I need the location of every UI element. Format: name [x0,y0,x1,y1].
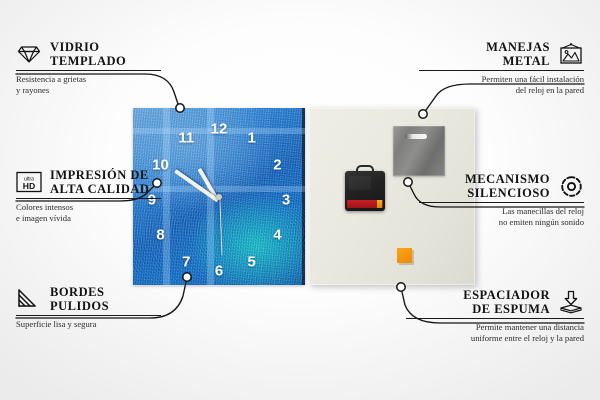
callout-subtitle-line2: no emiten ningún sonido [419,217,584,228]
clock-numeral-5: 5 [248,254,256,269]
callout-subtitle-line1: Las manecillas del reloj [419,206,584,217]
battery [347,200,383,208]
callout-header: ESPACIADOR DE ESPUMA [406,288,584,316]
callout-divider [16,315,161,316]
callout-subtitle-line1: Colores intensos [16,202,161,213]
callout-title-line2: DE ESPUMA [463,302,550,316]
callout-subtitle-line2: del reloj en la pared [419,85,584,96]
foam-spacer-icon [558,289,584,315]
mechanism-hanger-loop [356,165,374,174]
callout-subtitle-line2: e imagen vívida [16,213,161,224]
callout-header: MANEJAS METAL [419,40,584,68]
callout-manejas-metal: MANEJAS METAL Permiten una fácil instala… [419,40,584,97]
battery-terminal [377,200,382,208]
picture-frame-icon [558,41,584,67]
callout-header: VIDRIO TEMPLADO [16,40,161,68]
clock-numeral-11: 11 [178,131,194,146]
clock-second-hand [219,197,222,255]
callout-subtitle-line1: Superficie lisa y segura [16,319,161,330]
clock-numeral-7: 7 [182,254,190,269]
callout-subtitle-line1: Resistencia a grietas [16,74,161,85]
callout-subtitle-line1: Permite mantener una distancia [406,322,584,333]
callout-title-line1: IMPRESIÓN DE [50,168,149,182]
clock-numeral-2: 2 [273,157,281,172]
callout-subtitle-line2: uniforme entre el reloj y la pared [406,333,584,344]
clock-numeral-8: 8 [156,228,164,243]
callout-title-line2: SILENCIOSO [465,186,550,200]
callout-title-line1: BORDES [50,285,109,299]
clock-numeral-4: 4 [273,228,281,243]
callout-title-line2: PULIDOS [50,299,109,313]
clock-numeral-1: 1 [248,131,256,146]
clock-minute-hand [174,169,219,202]
callout-espaciador-espuma: ESPACIADOR DE ESPUMA Permite mantener un… [406,288,584,345]
glass-reflection [163,108,170,285]
callout-mecanismo-silencioso: MECANISMO SILENCIOSO Las manecillas del … [419,172,584,229]
mechanism-detail [349,176,371,190]
callout-title-line1: ESPACIADOR [463,288,550,302]
callout-header: BORDES PULIDOS [16,285,161,313]
callout-divider [16,198,161,199]
callout-bordes-pulidos: BORDES PULIDOS Superficie lisa y segura [16,285,161,330]
callout-impresion-alta-calidad: ultra HD IMPRESIÓN DE ALTA CALIDAD Color… [16,168,161,225]
callout-title-line2: METAL [486,54,550,68]
callout-divider [419,70,584,71]
callout-title-line1: MANEJAS [486,40,550,54]
clock-hand-cap [216,194,222,200]
callout-subtitle-line1: Permiten una fácil instalación [419,74,584,85]
polished-edge-icon [16,286,42,312]
callout-title-line2: ALTA CALIDAD [50,182,149,196]
callout-vidrio-templado: VIDRIO TEMPLADO Resistencia a grietas y … [16,40,161,97]
clock-numeral-3: 3 [282,193,290,208]
clock-numeral-6: 6 [215,263,223,278]
clock-numeral-12: 12 [211,122,228,137]
callout-title-line1: VIDRIO [50,40,126,54]
callout-title-line1: MECANISMO [465,172,550,186]
metal-hanger-plate [393,126,445,176]
infographic-canvas: 12 1 2 3 4 5 6 7 8 9 10 11 [0,0,600,400]
callout-divider [419,202,584,203]
callout-divider [16,70,161,71]
callout-header: MECANISMO SILENCIOSO [419,172,584,200]
callout-divider [406,318,584,319]
svg-text:HD: HD [23,181,35,191]
callout-title-line2: TEMPLADO [50,54,126,68]
diamond-icon [16,41,42,67]
callout-subtitle-line2: y rayones [16,85,161,96]
ultra-hd-icon: ultra HD [16,169,42,195]
clock-mechanism-box [345,171,385,211]
hanger-slot [405,134,427,139]
callout-header: ultra HD IMPRESIÓN DE ALTA CALIDAD [16,168,161,196]
gear-icon [558,173,584,199]
foam-spacer-pad [397,248,412,263]
